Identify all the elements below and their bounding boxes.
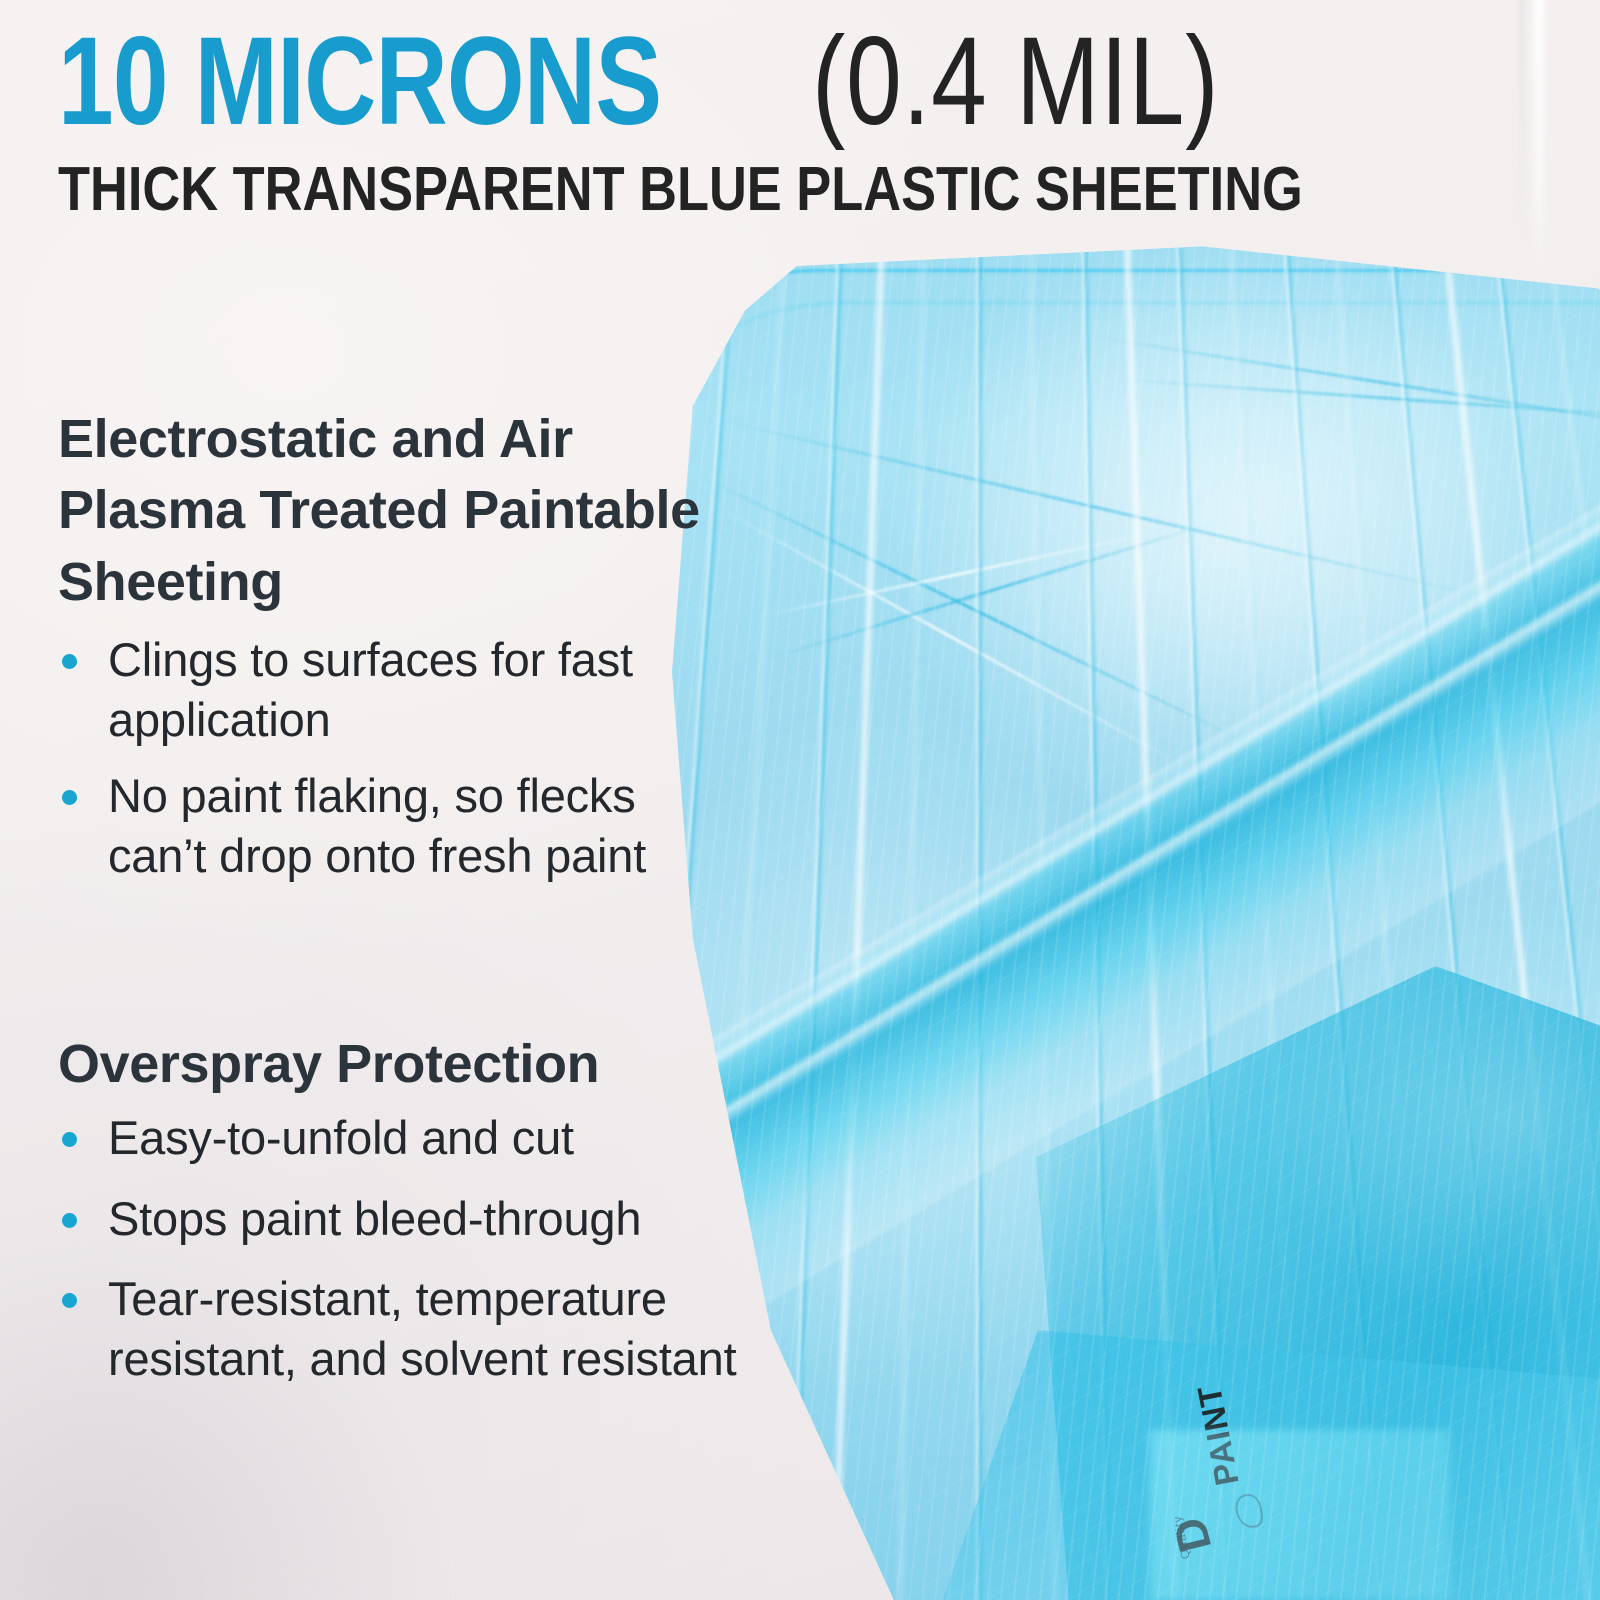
headline: 10 MICRONS(0.4 MIL): [58, 22, 1558, 142]
list-item: No paint flaking, so flecks can’t drop o…: [58, 766, 718, 886]
section-overspray-protection: Overspray Protection Easy-to-unfold and …: [58, 1034, 858, 1409]
headline-secondary: (0.4 MIL): [812, 22, 1219, 142]
list-item-label: No paint flaking, so flecks can’t drop o…: [108, 769, 646, 882]
list-item: Tear-resistant, temperature resistant, a…: [58, 1269, 858, 1389]
bullet-dot-icon: [62, 1213, 77, 1228]
list-item-label: Stops paint bleed-through: [108, 1192, 641, 1245]
section-paintable-sheeting: Electrostatic and Air Plasma Treated Pai…: [58, 404, 718, 902]
headline-primary: 10 MICRONS: [58, 22, 661, 142]
bullet-dot-icon: [62, 654, 77, 669]
list-item-label: Easy-to-unfold and cut: [108, 1111, 574, 1164]
list-item: Easy-to-unfold and cut: [58, 1108, 858, 1168]
section-title: Electrostatic and Air Plasma Treated Pai…: [58, 404, 718, 618]
bullet-dot-icon: [62, 790, 77, 805]
list-item-label: Clings to surfaces for fast application: [108, 633, 633, 746]
list-item: Stops paint bleed-through: [58, 1189, 858, 1249]
section-title: Overspray Protection: [58, 1034, 858, 1094]
infographic-canvas: PAINT D Quality 10 MICRONS(0.4 MIL) THIC…: [0, 0, 1600, 1600]
list-item-label: Tear-resistant, temperature resistant, a…: [108, 1272, 736, 1385]
bullet-dot-icon: [62, 1132, 77, 1147]
list-item: Clings to surfaces for fast application: [58, 630, 718, 750]
section-bullet-list: Clings to surfaces for fast application …: [58, 630, 718, 887]
bullet-dot-icon: [62, 1293, 77, 1308]
headline-subtitle: THICK TRANSPARENT BLUE PLASTIC SHEETING: [58, 154, 1303, 225]
section-bullet-list: Easy-to-unfold and cut Stops paint bleed…: [58, 1108, 858, 1389]
